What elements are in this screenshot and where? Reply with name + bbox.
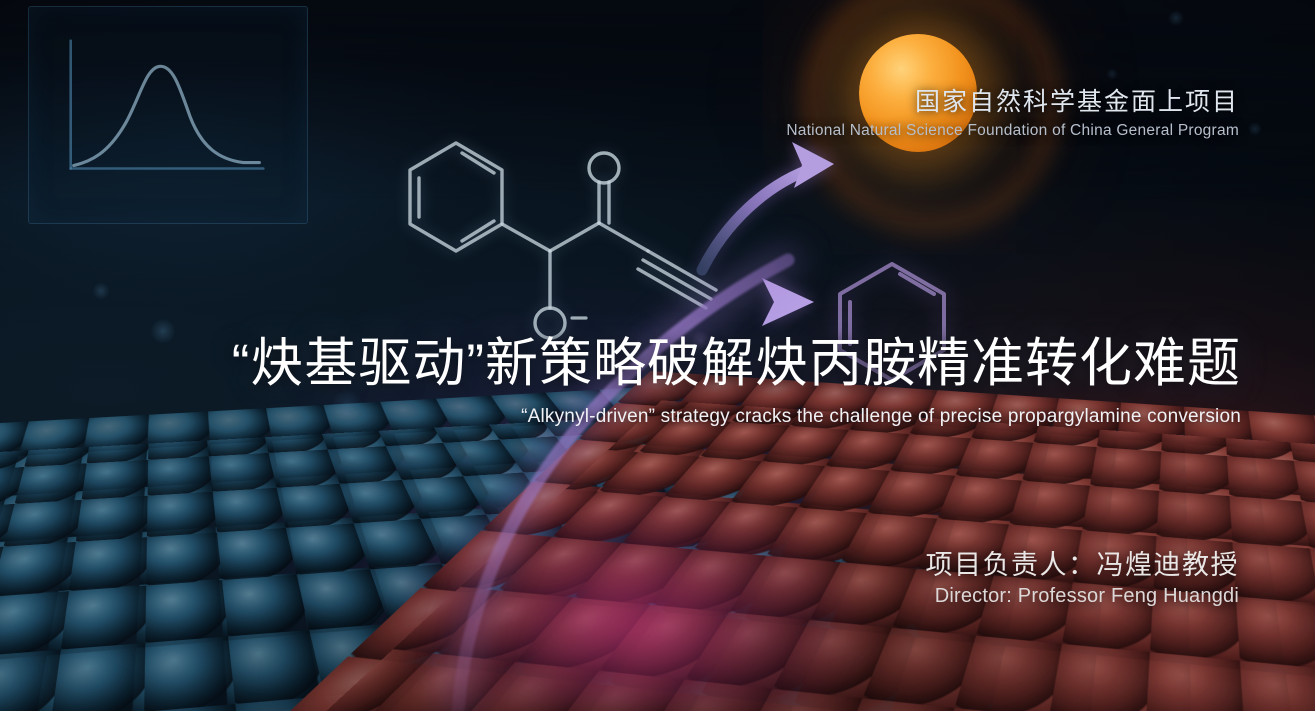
page-title-en: “Alkynyl-driven” strategy cracks the cha… [0, 406, 1241, 428]
bokeh-particle [1106, 68, 1118, 80]
chart-panel [28, 6, 308, 224]
carbonyl-oxygen-glyph [589, 153, 619, 183]
bokeh-particle [1248, 122, 1262, 136]
header-title-cn: 国家自然科学基金面上项目 [786, 88, 1239, 117]
peak-curve-plot-curve [74, 66, 260, 165]
bokeh-particle [92, 282, 110, 300]
peak-curve-plot-axes [71, 41, 264, 169]
purple-ribbon-glow [458, 260, 788, 711]
bond-ring-to-ch [502, 224, 550, 251]
bokeh-particle [1168, 10, 1184, 26]
bond-ch-to-carbonyl [550, 223, 599, 251]
director-label-en: Director: Professor Feng Huangdi [926, 585, 1240, 608]
poster-canvas: 国家自然科学基金面上项目 National Natural Science Fo… [0, 0, 1315, 711]
benzene-ring [410, 143, 502, 251]
reaction-arrow-curved [702, 142, 834, 270]
bond-carbonyl-to-alkyne [599, 223, 648, 251]
purple-ribbon-path [458, 260, 788, 711]
title-block: “炔基驱动”新策略破解炔丙胺精准转化难题 “Alkynyl-driven” st… [0, 336, 1241, 428]
header-title-en: National Natural Science Foundation of C… [786, 122, 1239, 140]
director-block: 项目负责人：冯煌迪教授 Director: Professor Feng Hua… [926, 549, 1240, 608]
director-label-cn: 项目负责人：冯煌迪教授 [926, 549, 1240, 581]
page-title-cn: “炔基驱动”新策略破解炔丙胺精准转化难题 [0, 336, 1241, 392]
header-block: 国家自然科学基金面上项目 National Natural Science Fo… [786, 88, 1239, 140]
